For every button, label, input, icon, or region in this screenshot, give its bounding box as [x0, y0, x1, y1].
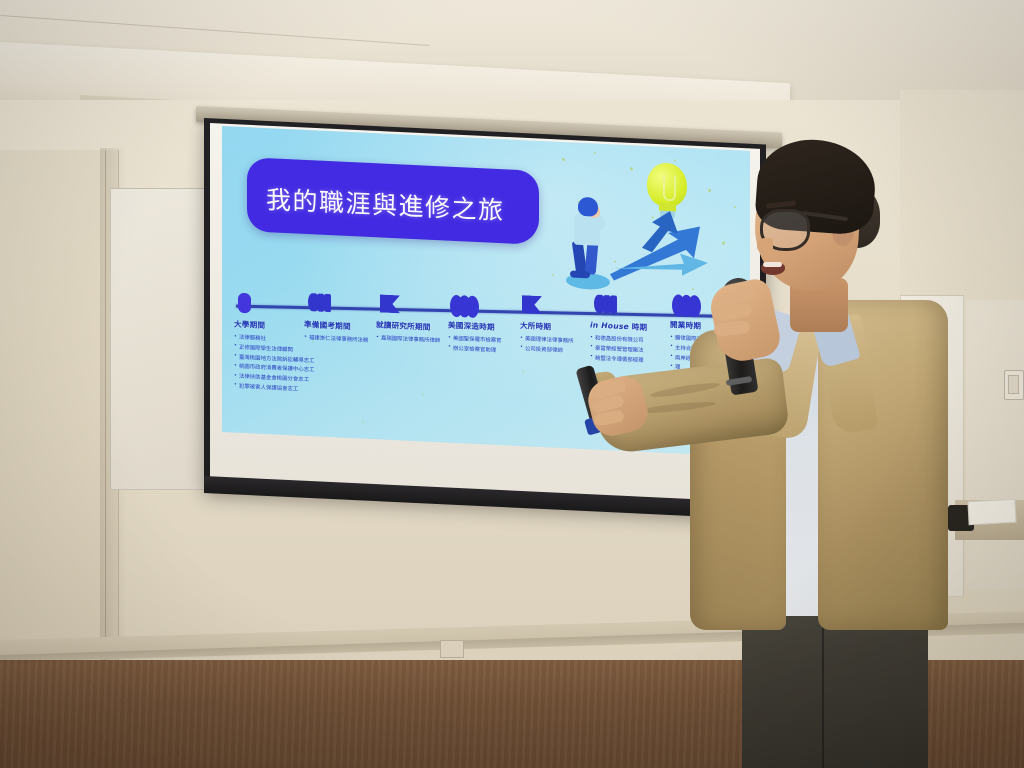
timeline-stage-3: 美國深造時期 美國聖保羅市檢察官 辦公室檢察官助理: [448, 320, 530, 358]
light-switch-toggle[interactable]: [1008, 375, 1019, 394]
wall-outlet: [440, 640, 464, 658]
wall-panel-right: [966, 300, 1024, 590]
person-head: [578, 197, 598, 217]
timeline-stage-2: 就讀研究所期間 嘉瑞國際法律事務所律師: [376, 319, 458, 348]
stage-bullets-5: 和德昌股份有限公司 豪富榮經營管理廠法 務暨法令遵循部經理: [590, 334, 676, 366]
person-shoe: [570, 270, 590, 278]
paper-sheet: [967, 499, 1016, 525]
speaker-teeth: [763, 262, 782, 267]
timeline-stage-5: in House 時期 和德昌股份有限公司 豪富榮經營管理廠法 務暨法令遵循部經…: [590, 319, 676, 367]
lightbulb-filament-icon: [663, 175, 676, 202]
presentation-photo-scene: 我的職涯與進修之旅: [0, 0, 1024, 768]
stage-bullets-3: 美國聖保羅市檢察官 辦公室檢察官助理: [448, 335, 530, 357]
person-leg: [585, 242, 599, 274]
speaker-nose: [757, 238, 773, 254]
whiteboard-left: [110, 188, 207, 490]
timeline-stage-1: 準備國考期間 福建崇仁法律事務所法務: [304, 319, 386, 348]
wall-divider: [105, 150, 106, 670]
arrow-up-icon: [636, 208, 714, 258]
